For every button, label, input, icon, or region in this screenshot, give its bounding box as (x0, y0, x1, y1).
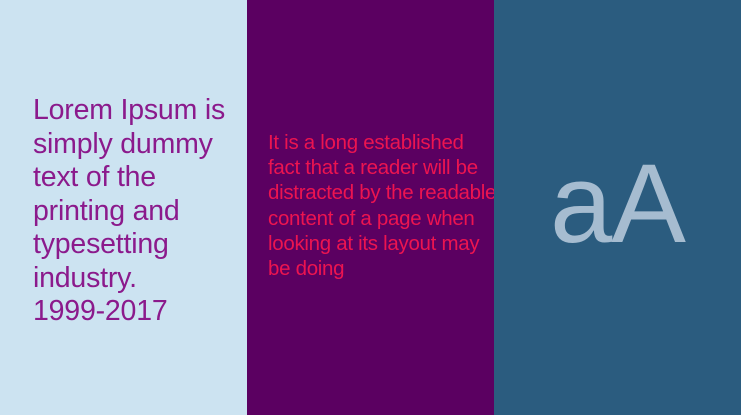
font-sample-panel: aA (494, 0, 741, 415)
heading-panel-text: Lorem Ipsum is simply dummy text of the … (33, 94, 243, 329)
font-sample-glyphs: aA (494, 0, 741, 415)
body-copy-panel-text: It is a long established fact that a rea… (268, 130, 494, 281)
body-copy-panel: It is a long established fact that a rea… (247, 0, 494, 415)
heading-panel: Lorem Ipsum is simply dummy text of the … (0, 0, 247, 415)
slide-canvas: Lorem Ipsum is simply dummy text of the … (0, 0, 741, 415)
